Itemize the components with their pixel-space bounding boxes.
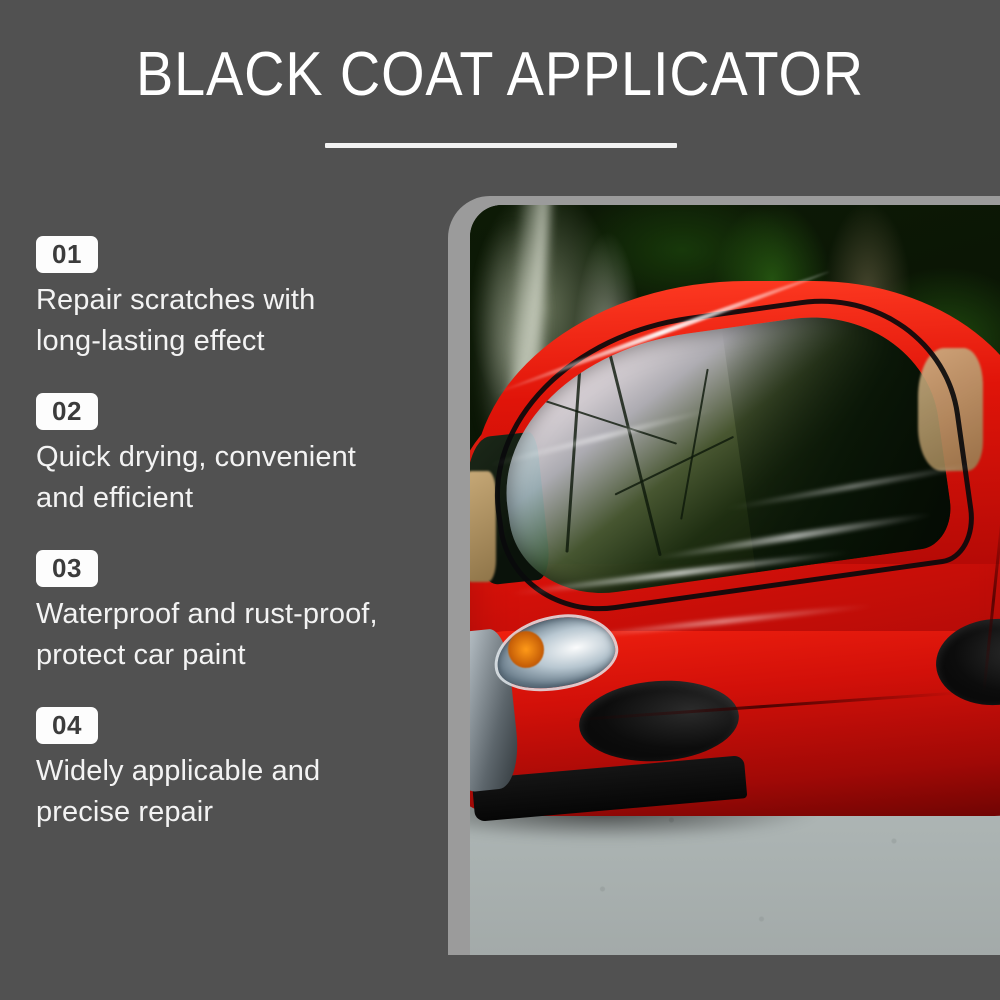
feature-list: 01 Repair scratches with long-lasting ef… xyxy=(36,236,436,864)
feature-number-badge: 04 xyxy=(36,707,98,744)
feature-item: 01 Repair scratches with long-lasting ef… xyxy=(36,236,436,393)
feature-number-badge: 03 xyxy=(36,550,98,587)
poster-canvas: BLACK COAT APPLICATOR 01 Repair scratche… xyxy=(0,0,1000,1000)
page-title: BLACK COAT APPLICATOR xyxy=(50,40,950,110)
title-divider xyxy=(325,143,677,148)
photo-frame xyxy=(448,196,1000,955)
feature-item: 04 Widely applicable and precise repair xyxy=(36,707,436,864)
sports-car xyxy=(470,250,1000,865)
feature-text: Repair scratches with long-lasting effec… xyxy=(36,280,436,362)
feature-text: Waterproof and rust-proof, protect car p… xyxy=(36,594,436,676)
feature-text: Quick drying, convenient and efficient xyxy=(36,437,436,519)
interior-seat xyxy=(470,471,496,582)
feature-number-badge: 01 xyxy=(36,236,98,273)
feature-number-badge: 02 xyxy=(36,393,98,430)
feature-item: 02 Quick drying, convenient and efficien… xyxy=(36,393,436,550)
feature-text: Widely applicable and precise repair xyxy=(36,751,436,833)
feature-item: 03 Waterproof and rust-proof, protect ca… xyxy=(36,550,436,707)
car-photo xyxy=(470,205,1000,955)
